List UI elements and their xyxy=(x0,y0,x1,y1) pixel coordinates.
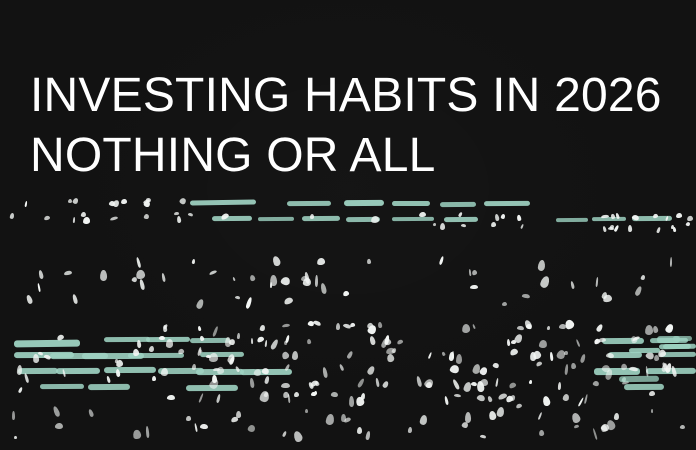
texture-fleck xyxy=(83,217,90,224)
texture-fleck xyxy=(195,298,204,310)
texture-fleck xyxy=(538,412,543,421)
texture-dash xyxy=(190,338,230,343)
texture-fleck xyxy=(480,435,486,440)
texture-fleck xyxy=(253,368,262,377)
texture-dash xyxy=(104,337,150,342)
texture-fleck xyxy=(68,199,72,203)
texture-dash xyxy=(619,375,659,382)
texture-fleck xyxy=(37,270,44,280)
texture-fleck xyxy=(292,429,304,443)
texture-fleck xyxy=(386,353,395,363)
texture-fleck xyxy=(538,339,546,348)
texture-fleck xyxy=(347,350,354,359)
texture-fleck xyxy=(197,326,201,332)
texture-fleck xyxy=(687,216,693,222)
texture-fleck xyxy=(322,367,329,378)
texture-fleck xyxy=(199,423,208,429)
texture-fleck xyxy=(186,416,191,421)
texture-fleck xyxy=(440,222,445,229)
texture-fleck xyxy=(627,225,632,232)
obscured-text-texture xyxy=(0,0,696,450)
texture-fleck xyxy=(375,378,379,388)
texture-dash xyxy=(440,202,476,207)
texture-fleck xyxy=(420,415,429,426)
texture-fleck xyxy=(382,381,390,390)
texture-fleck xyxy=(136,269,146,279)
texture-dash xyxy=(88,384,130,390)
texture-dash xyxy=(40,384,84,389)
texture-fleck xyxy=(152,376,157,381)
texture-fleck xyxy=(305,409,309,414)
texture-dash xyxy=(392,217,434,221)
texture-fleck xyxy=(416,376,423,387)
texture-fleck xyxy=(558,382,562,390)
texture-fleck xyxy=(72,198,79,206)
texture-fleck xyxy=(679,425,685,430)
texture-fleck xyxy=(462,324,471,334)
texture-fleck xyxy=(13,436,16,440)
texture-fleck xyxy=(249,275,256,283)
texture-fleck xyxy=(292,351,298,360)
texture-fleck xyxy=(280,351,289,360)
texture-fleck xyxy=(439,256,444,266)
texture-fleck xyxy=(265,376,271,384)
texture-fleck xyxy=(664,323,674,334)
texture-fleck xyxy=(10,213,15,220)
texture-fleck xyxy=(179,197,187,205)
texture-fleck xyxy=(342,291,349,297)
texture-fleck xyxy=(206,355,211,359)
texture-fleck xyxy=(121,199,127,204)
texture-fleck xyxy=(132,429,141,440)
texture-fleck xyxy=(213,368,220,372)
texture-fleck xyxy=(194,423,198,432)
texture-fleck xyxy=(592,380,599,386)
texture-fleck xyxy=(468,269,471,276)
texture-dash xyxy=(556,218,588,222)
texture-fleck xyxy=(487,396,493,404)
texture-fleck xyxy=(282,431,287,438)
texture-fleck xyxy=(470,285,478,289)
texture-fleck xyxy=(556,349,566,360)
texture-fleck xyxy=(306,338,312,344)
texture-fleck xyxy=(37,283,41,292)
texture-fleck xyxy=(246,297,254,309)
texture-fleck xyxy=(369,335,377,345)
texture-fleck xyxy=(191,364,195,370)
texture-fleck xyxy=(209,269,218,275)
texture-fleck xyxy=(614,413,619,420)
texture-fleck xyxy=(18,386,23,392)
texture-fleck xyxy=(176,216,181,224)
texture-dash xyxy=(629,348,660,353)
texture-fleck xyxy=(330,391,338,397)
texture-fleck xyxy=(320,283,328,295)
texture-fleck xyxy=(280,276,291,286)
texture-fleck xyxy=(539,275,550,288)
texture-fleck xyxy=(342,323,351,330)
texture-fleck xyxy=(145,426,150,438)
texture-fleck xyxy=(25,201,28,207)
texture-fleck xyxy=(505,395,514,403)
texture-fleck xyxy=(686,222,691,227)
texture-fleck xyxy=(235,296,241,301)
texture-fleck xyxy=(269,339,278,351)
texture-fleck xyxy=(55,423,64,430)
texture-fleck xyxy=(670,257,672,267)
texture-fleck xyxy=(538,260,546,272)
texture-fleck xyxy=(247,424,256,433)
texture-dash xyxy=(287,201,331,206)
texture-fleck xyxy=(516,403,523,409)
texture-fleck xyxy=(509,347,519,356)
texture-fleck xyxy=(494,214,499,222)
texture-fleck xyxy=(584,393,588,403)
texture-fleck xyxy=(522,294,530,299)
texture-fleck xyxy=(316,257,325,264)
texture-fleck xyxy=(26,294,34,304)
texture-fleck xyxy=(509,382,517,389)
texture-fleck xyxy=(259,390,269,402)
texture-fleck xyxy=(441,351,445,355)
texture-fleck xyxy=(520,224,524,230)
texture-fleck xyxy=(385,348,394,355)
texture-fleck xyxy=(163,325,168,333)
texture-fleck xyxy=(525,323,533,330)
texture-fleck xyxy=(529,380,533,385)
texture-dash xyxy=(302,216,340,221)
texture-dash xyxy=(258,217,294,221)
texture-dash xyxy=(392,201,430,206)
texture-fleck xyxy=(573,424,578,429)
texture-fleck xyxy=(270,282,272,288)
texture-fleck xyxy=(281,383,290,389)
texture-fleck xyxy=(64,270,72,276)
texture-fleck xyxy=(492,362,499,369)
texture-fleck xyxy=(570,281,575,289)
texture-fleck xyxy=(212,326,219,337)
texture-fleck xyxy=(43,215,50,221)
texture-fleck xyxy=(367,259,372,265)
texture-fleck xyxy=(187,212,193,217)
texture-fleck xyxy=(502,302,507,306)
texture-dash xyxy=(14,340,80,348)
texture-fleck xyxy=(593,428,599,440)
texture-fleck xyxy=(651,409,653,413)
texture-dash xyxy=(212,216,252,221)
texture-fleck xyxy=(635,285,643,296)
texture-fleck xyxy=(452,378,461,389)
texture-fleck xyxy=(541,395,551,407)
texture-fleck xyxy=(676,213,682,218)
texture-fleck xyxy=(136,340,141,348)
texture-fleck xyxy=(517,215,522,221)
texture-fleck xyxy=(282,324,291,329)
texture-fleck xyxy=(444,396,450,406)
texture-fleck xyxy=(167,395,175,400)
texture-fleck xyxy=(99,270,106,281)
texture-fleck xyxy=(370,216,378,223)
texture-fleck xyxy=(596,277,599,287)
texture-fleck xyxy=(357,378,365,389)
texture-fleck xyxy=(576,339,581,347)
texture-fleck xyxy=(148,345,154,352)
texture-fleck xyxy=(336,323,341,331)
texture-fleck xyxy=(237,333,240,339)
texture-fleck xyxy=(535,361,542,367)
texture-fleck xyxy=(110,216,118,221)
texture-fleck xyxy=(161,368,168,376)
texture-fleck xyxy=(449,364,459,374)
texture-fleck xyxy=(480,379,488,386)
texture-fleck xyxy=(285,335,290,343)
texture-fleck xyxy=(251,338,253,344)
texture-fleck xyxy=(212,374,217,383)
texture-fleck xyxy=(87,408,94,417)
texture-fleck xyxy=(397,339,404,345)
texture-fleck xyxy=(614,225,620,233)
texture-fleck xyxy=(649,390,656,395)
texture-fleck xyxy=(570,363,576,370)
texture-fleck xyxy=(325,414,334,426)
texture-fleck xyxy=(580,354,586,363)
texture-fleck xyxy=(161,273,166,282)
texture-fleck xyxy=(315,275,318,287)
texture-fleck xyxy=(349,396,354,407)
texture-fleck xyxy=(249,378,254,388)
texture-fleck xyxy=(428,352,432,359)
texture-dash xyxy=(484,201,530,206)
texture-fleck xyxy=(198,393,204,404)
texture-fleck xyxy=(461,223,467,227)
texture-fleck xyxy=(593,338,600,345)
texture-fleck xyxy=(491,222,497,227)
texture-fleck xyxy=(312,319,321,326)
texture-fleck xyxy=(339,364,345,371)
texture-fleck xyxy=(565,364,569,375)
texture-fleck xyxy=(192,259,196,264)
texture-fleck xyxy=(112,199,120,208)
texture-dash xyxy=(624,384,664,390)
texture-fleck xyxy=(456,354,462,364)
texture-fleck xyxy=(433,223,436,227)
texture-fleck xyxy=(283,297,293,306)
texture-dash xyxy=(444,217,478,222)
texture-fleck xyxy=(341,413,346,421)
texture-fleck xyxy=(602,226,607,232)
texture-fleck xyxy=(260,325,265,331)
texture-fleck xyxy=(408,427,412,433)
texture-fleck xyxy=(465,412,472,423)
texture-fleck xyxy=(177,348,184,354)
texture-fleck xyxy=(52,405,61,417)
texture-fleck xyxy=(538,430,544,436)
texture-fleck xyxy=(550,352,554,361)
texture-fleck xyxy=(314,391,317,395)
texture-fleck xyxy=(357,427,363,434)
texture-fleck xyxy=(451,350,454,358)
texture-fleck xyxy=(578,397,584,406)
texture-fleck xyxy=(136,257,142,268)
texture-fleck xyxy=(12,411,15,420)
texture-fleck xyxy=(72,217,75,223)
texture-dash xyxy=(190,199,256,205)
texture-fleck xyxy=(501,214,506,220)
poster-canvas: Investing Habits In 2026 Nothing Or All xyxy=(0,0,696,450)
texture-dash xyxy=(592,217,626,221)
texture-fleck xyxy=(265,340,268,347)
texture-fleck xyxy=(236,411,241,418)
texture-fleck xyxy=(366,365,376,376)
texture-fleck xyxy=(652,326,658,334)
texture-fleck xyxy=(472,324,476,330)
texture-fleck xyxy=(506,338,510,345)
texture-fleck xyxy=(271,255,282,267)
texture-fleck xyxy=(138,278,145,289)
texture-fleck xyxy=(595,323,604,333)
texture-fleck xyxy=(673,226,677,232)
texture-fleck xyxy=(497,407,506,418)
texture-fleck xyxy=(233,277,236,282)
texture-fleck xyxy=(454,394,461,398)
texture-fleck xyxy=(463,382,472,393)
texture-fleck xyxy=(365,431,370,440)
texture-fleck xyxy=(419,212,426,217)
texture-fleck xyxy=(562,393,569,400)
texture-fleck xyxy=(106,376,111,383)
texture-fleck xyxy=(216,394,221,403)
texture-fleck xyxy=(570,411,581,423)
texture-dash xyxy=(673,336,692,341)
texture-fleck xyxy=(547,326,551,330)
texture-fleck xyxy=(517,326,524,332)
texture-fleck xyxy=(166,339,173,348)
texture-fleck xyxy=(144,213,150,218)
texture-fleck xyxy=(476,393,486,401)
texture-dash xyxy=(663,344,691,349)
texture-fleck xyxy=(293,392,299,398)
texture-fleck xyxy=(640,275,645,281)
texture-fleck xyxy=(257,336,265,343)
texture-fleck xyxy=(378,321,383,328)
texture-fleck xyxy=(80,212,86,217)
texture-dash xyxy=(344,200,384,206)
texture-fleck xyxy=(472,269,479,276)
texture-fleck xyxy=(496,378,500,387)
texture-dash xyxy=(104,367,156,373)
texture-fleck xyxy=(656,227,661,234)
texture-fleck xyxy=(72,293,79,304)
texture-fleck xyxy=(559,324,566,330)
